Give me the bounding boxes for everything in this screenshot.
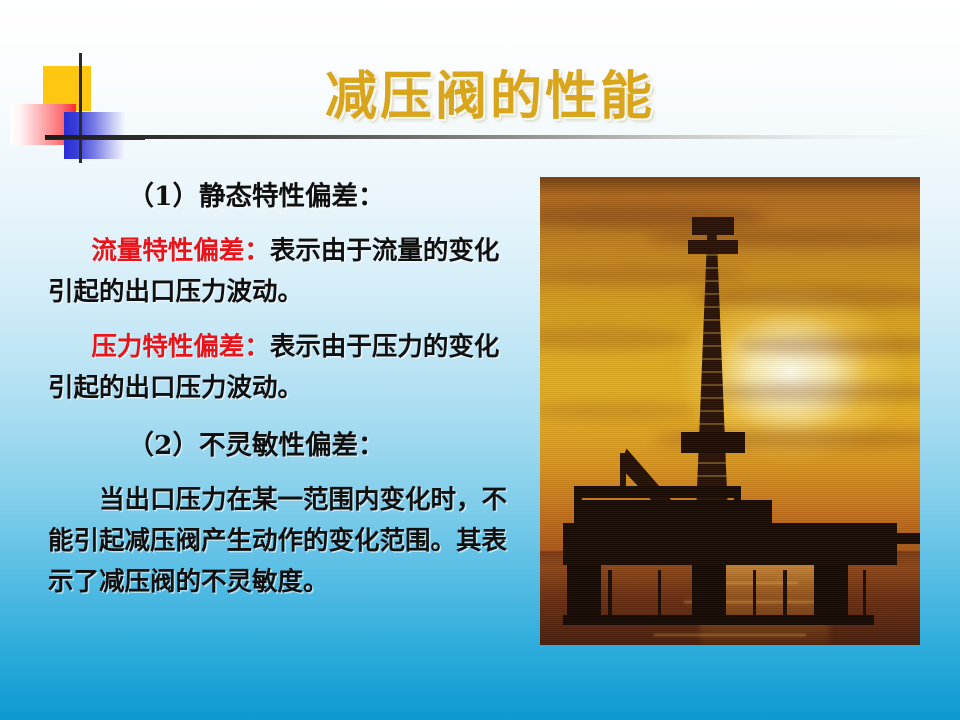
body-text-column: （1）静态特性偏差： 流量特性偏差：表示由于流量的变化引起的出口压力波动。 压力…: [48, 176, 518, 603]
oil-rig-photo-canvas: [540, 177, 920, 645]
item-2-paragraph: 压力特性偏差：表示由于压力的变化引起的出口压力波动。: [48, 327, 518, 409]
item-1-label: 流量特性偏差：: [91, 236, 270, 266]
photo-grain-overlay: [540, 177, 920, 645]
section-2-paragraph: 当出口压力在某一范围内变化时，不能引起减压阀产生动作的变化范围。其表示了减压阀的…: [48, 480, 518, 603]
page-title: 减压阀的性能: [180, 54, 800, 129]
crosshair-vertical-line: [79, 53, 82, 163]
slide-canvas: 减压阀的性能 （1）静态特性偏差： 流量特性偏差：表示由于流量的变化引起的出口压…: [0, 0, 960, 720]
section-1-heading: （1）静态特性偏差：: [48, 176, 518, 217]
item-2-label: 压力特性偏差：: [91, 332, 270, 362]
item-1-paragraph: 流量特性偏差：表示由于流量的变化引起的出口压力波动。: [48, 231, 518, 313]
oil-rig-photo: [540, 177, 920, 645]
spacer: [48, 409, 518, 425]
spacer: [48, 313, 518, 327]
title-divider-rule: [45, 135, 950, 139]
decorative-logo: [0, 40, 150, 175]
section-2-heading: （2）不灵敏性偏差：: [48, 425, 518, 466]
